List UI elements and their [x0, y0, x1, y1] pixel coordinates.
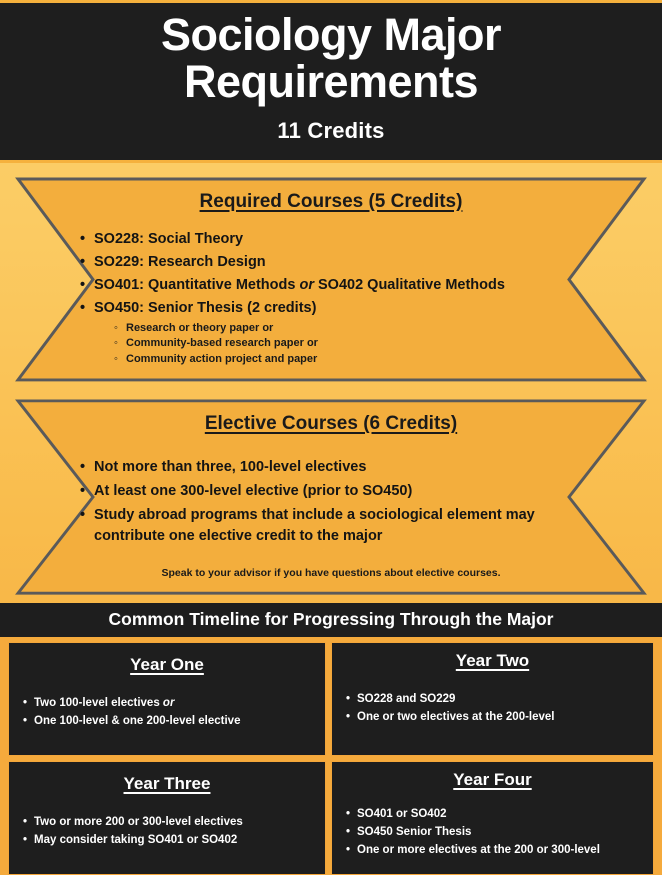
list-item: Community action project and paper	[114, 352, 590, 368]
year-one-title: Year One	[23, 655, 311, 675]
year-one-list: Two 100-level electives or One 100-level…	[23, 695, 311, 731]
list-item: Two 100-level electives or	[23, 695, 311, 713]
poster-header: Sociology Major Requirements 11 Credits	[0, 3, 662, 160]
required-courses-banner: Required Courses (5 Credits) SO228: Soci…	[16, 177, 646, 382]
requirements-area: Required Courses (5 Credits) SO228: Soci…	[0, 163, 662, 604]
year-card-four: Year Four SO401 or SO402 SO450 Senior Th…	[331, 761, 654, 875]
advisor-note: Speak to your advisor if you have questi…	[72, 567, 590, 579]
year-four-title: Year Four	[346, 770, 639, 790]
list-item: SO401: Quantitative Methods or SO402 Qua…	[80, 275, 590, 296]
list-item: At least one 300-level elective (prior t…	[80, 481, 590, 502]
elective-courses-banner: Elective Courses (6 Credits) Not more th…	[16, 399, 646, 595]
senior-thesis-options: Research or theory paper or Community-ba…	[94, 321, 590, 368]
year-four-list: SO401 or SO402 SO450 Senior Thesis One o…	[346, 806, 639, 859]
year-card-three: Year Three Two or more 200 or 300-level …	[8, 761, 326, 875]
list-item: Community-based research paper or	[114, 336, 590, 352]
timeline-year-grid: Year One Two 100-level electives or One …	[0, 637, 662, 875]
credits-subtitle: 11 Credits	[20, 118, 642, 144]
year-two-title: Year Two	[346, 651, 639, 671]
required-courses-list: SO228: Social Theory SO229: Research Des…	[72, 229, 590, 368]
year-three-title: Year Three	[23, 774, 311, 794]
list-item: One or more electives at the 200 or 300-…	[346, 842, 639, 860]
timeline-title: Common Timeline for Progressing Through …	[0, 609, 662, 630]
list-item: One or two electives at the 200-level	[346, 709, 639, 727]
elective-courses-list: Not more than three, 100-level electives…	[72, 457, 590, 547]
list-item: SO450: Senior Thesis (2 credits) Researc…	[80, 298, 590, 368]
year-card-one: Year One Two 100-level electives or One …	[8, 642, 326, 756]
year-three-list: Two or more 200 or 300-level electives M…	[23, 814, 311, 850]
list-item: SO229: Research Design	[80, 252, 590, 273]
year-card-two: Year Two SO228 and SO229 One or two elec…	[331, 642, 654, 756]
list-item: Not more than three, 100-level electives	[80, 457, 590, 478]
list-item: Research or theory paper or	[114, 321, 590, 337]
timeline-band: Common Timeline for Progressing Through …	[0, 603, 662, 637]
list-item: Study abroad programs that include a soc…	[80, 505, 590, 547]
list-item: SO228: Social Theory	[80, 229, 590, 250]
required-courses-title: Required Courses (5 Credits)	[72, 191, 590, 213]
list-item: SO228 and SO229	[346, 691, 639, 709]
page-title: Sociology Major Requirements	[20, 11, 642, 106]
list-item: SO401 or SO402	[346, 806, 639, 824]
poster-root: Sociology Major Requirements 11 Credits …	[0, 0, 662, 875]
list-item: May consider taking SO401 or SO402	[23, 832, 311, 850]
year-row-top: Year One Two 100-level electives or One …	[8, 642, 654, 756]
list-item: Two or more 200 or 300-level electives	[23, 814, 311, 832]
year-two-list: SO228 and SO229 One or two electives at …	[346, 691, 639, 727]
year-row-bottom: Year Three Two or more 200 or 300-level …	[8, 761, 654, 875]
list-item: SO450 Senior Thesis	[346, 824, 639, 842]
list-item: One 100-level & one 200-level elective	[23, 713, 311, 731]
elective-courses-title: Elective Courses (6 Credits)	[72, 413, 590, 435]
